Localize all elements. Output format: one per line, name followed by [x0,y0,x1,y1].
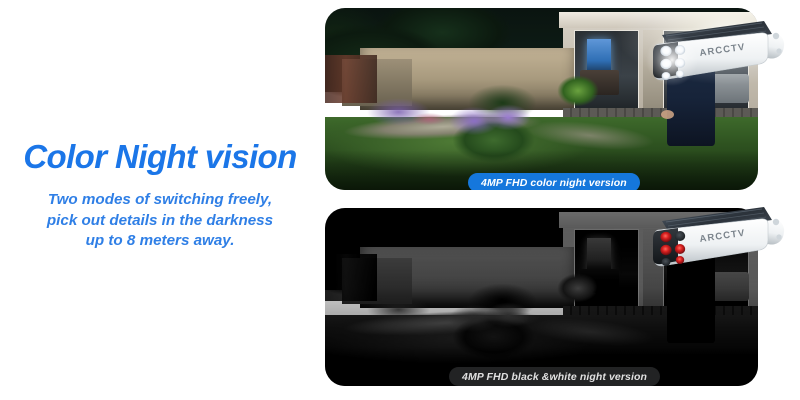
purple-flowers-left [351,290,446,329]
camera-lens-face [653,228,685,266]
led-infrared-4 [675,231,685,241]
status-badge-bw-night: 4MP FHD black &white night version [449,367,660,386]
status-badge-color-night: 4MP FHD color night version [468,173,640,190]
subheading-line-3: up to 8 meters away. [10,231,310,252]
led-glow [646,34,698,86]
camera-lens-face [646,34,698,86]
security-camera-color-mode: ARCCTV [636,14,792,92]
subheading-line-2: pick out details in the darkness [10,211,310,232]
led-infrared-3 [662,258,671,266]
security-camera-bw-mode: ARCCTV [636,200,792,278]
led-infrared-2 [660,245,671,255]
subheading: Two modes of switching freely, pick out … [10,190,310,252]
person-hand [661,110,674,119]
led-infrared-1 [660,232,671,242]
promo-banner: Color Night vision Two modes of switchin… [0,0,800,400]
led-infrared-5 [675,244,685,254]
subheading-line-1: Two modes of switching freely, [10,190,310,211]
led-infrared-6 [676,256,684,264]
page-title: Color Night vision [0,138,320,176]
